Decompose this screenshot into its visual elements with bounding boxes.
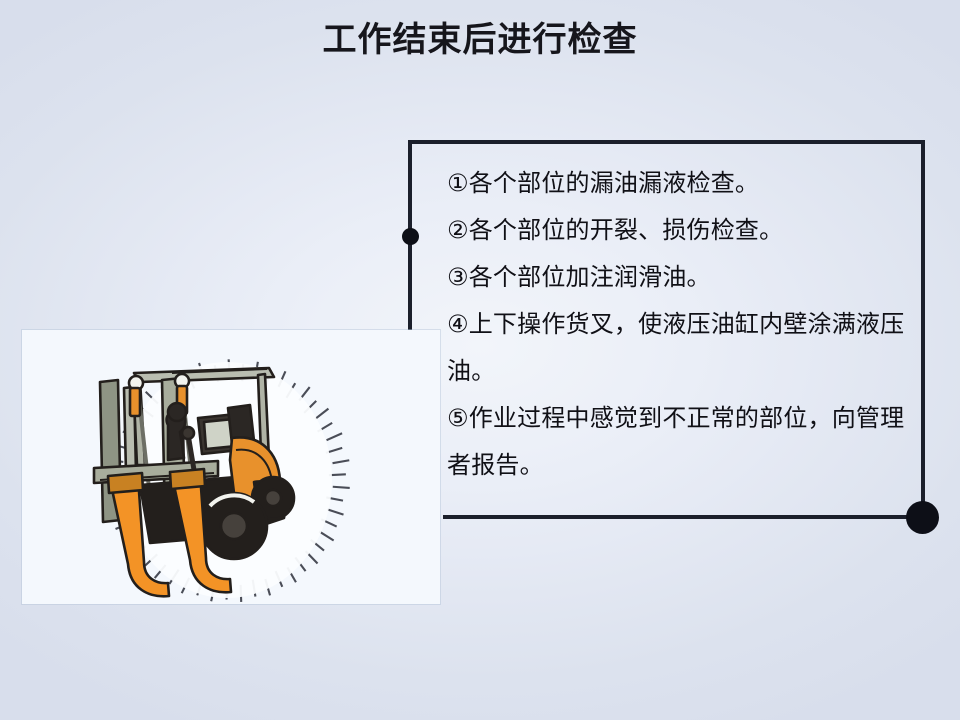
frame-right-border: [921, 140, 925, 519]
checklist-item: ①各个部位的漏油漏液检查。: [447, 160, 915, 207]
checklist-item: ④上下操作货叉，使液压油缸内壁涂满液压油。: [447, 301, 915, 395]
checklist-item: ②各个部位的开裂、损伤检查。: [447, 207, 915, 254]
checklist-item: ③各个部位加注润滑油。: [447, 254, 915, 301]
frame-dot-large: [906, 501, 939, 534]
frame-top-border: [408, 140, 925, 144]
frame-dot-small: [402, 228, 419, 245]
checklist-item: ⑤作业过程中感觉到不正常的部位，向管理者报告。: [447, 395, 915, 489]
forklift-image: [22, 330, 440, 604]
page-title: 工作结束后进行检查: [0, 18, 960, 62]
forklift-icon: [22, 330, 440, 604]
slide-canvas: 工作结束后进行检查 ①各个部位的漏油漏液检查。 ②各个部位的开裂、损伤检查。 ③…: [0, 0, 960, 720]
frame-bottom-border: [443, 515, 925, 519]
checklist-text-block: ①各个部位的漏油漏液检查。 ②各个部位的开裂、损伤检查。 ③各个部位加注润滑油。…: [447, 160, 915, 489]
